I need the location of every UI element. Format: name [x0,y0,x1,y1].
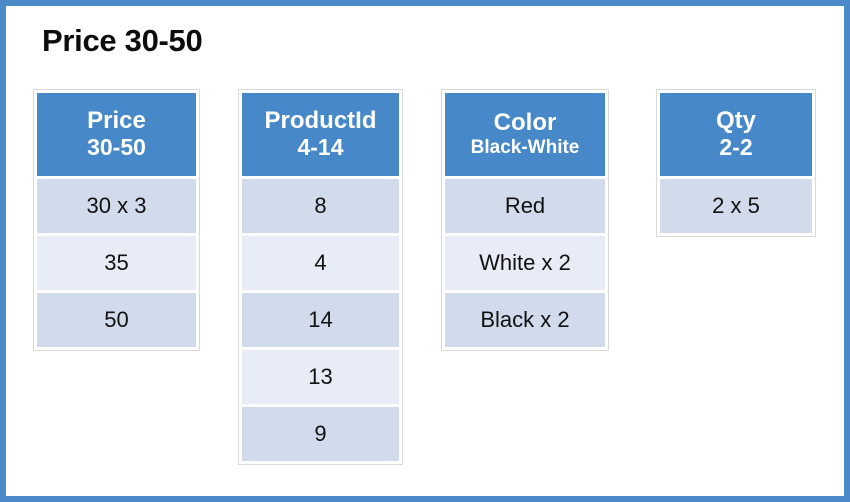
table-row: 13 [242,347,399,404]
productid-table-header-line1: ProductId [265,108,377,135]
table-row: 4 [242,233,399,290]
productid-table: ProductId 4-14 8 4 14 13 9 [239,90,402,464]
table-row: 35 [37,233,196,290]
table-row: 9 [242,404,399,461]
diagram-frame: Price 30-50 Price 30-50 30 x 3 35 50 Pro… [0,0,850,502]
color-table: Color Black-White Red White x 2 Black x … [442,90,608,350]
qty-table-header-line1: Qty [716,108,756,135]
table-row: 50 [37,290,196,347]
qty-table: Qty 2-2 2 x 5 [657,90,815,236]
qty-table-header: Qty 2-2 [660,93,812,176]
price-table-header-line1: Price [87,108,146,135]
color-table-header-line1: Color [494,110,557,137]
table-row: 2 x 5 [660,176,812,233]
table-group: Price 30-50 30 x 3 35 50 ProductId 4-14 … [6,90,844,490]
productid-table-header: ProductId 4-14 [242,93,399,176]
table-row: White x 2 [445,233,605,290]
table-row: 30 x 3 [37,176,196,233]
page-title: Price 30-50 [42,23,202,59]
price-table: Price 30-50 30 x 3 35 50 [34,90,199,350]
table-row: 14 [242,290,399,347]
price-table-header: Price 30-50 [37,93,196,176]
color-table-header: Color Black-White [445,93,605,176]
productid-table-header-line2: 4-14 [297,135,343,161]
qty-table-header-line2: 2-2 [719,135,752,161]
table-row: Black x 2 [445,290,605,347]
table-row: Red [445,176,605,233]
table-row: 8 [242,176,399,233]
color-table-header-line2: Black-White [471,137,580,158]
price-table-header-line2: 30-50 [87,135,146,161]
